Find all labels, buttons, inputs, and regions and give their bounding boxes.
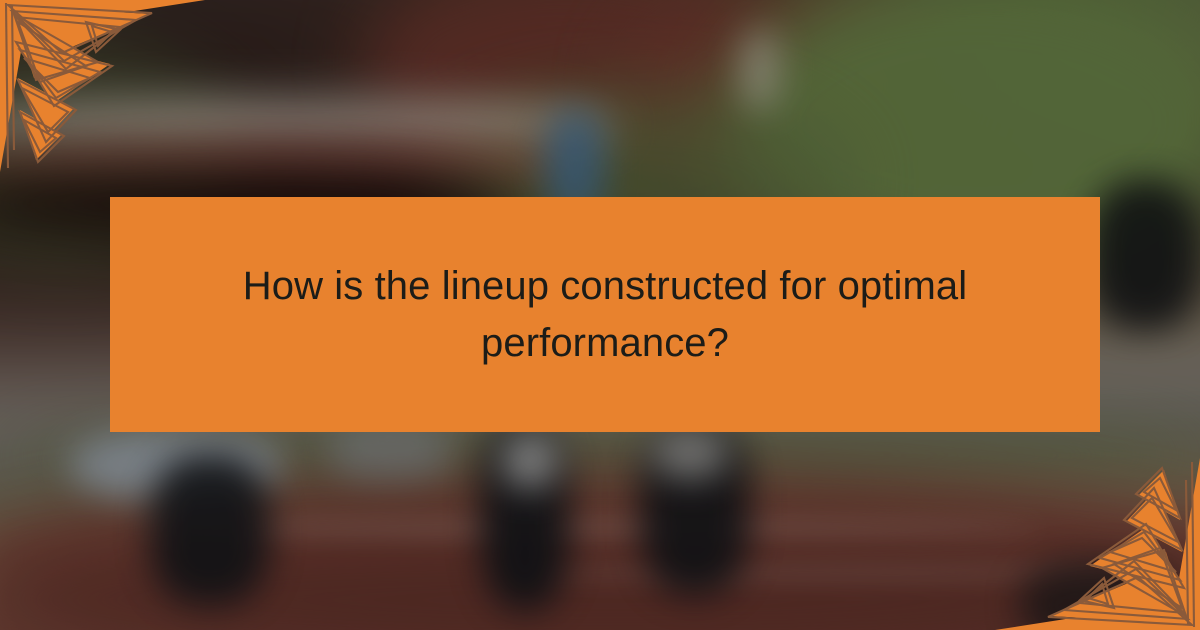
corner-ornament-bottom-right <box>990 455 1200 630</box>
corner-ornament-top-left <box>0 0 210 175</box>
quote-card: How is the lineup constructed for optima… <box>0 0 1200 630</box>
page-title: How is the lineup constructed for optima… <box>235 258 975 372</box>
quote-banner-content: How is the lineup constructed for optima… <box>110 197 1100 432</box>
quote-banner: How is the lineup constructed for optima… <box>110 197 1100 432</box>
